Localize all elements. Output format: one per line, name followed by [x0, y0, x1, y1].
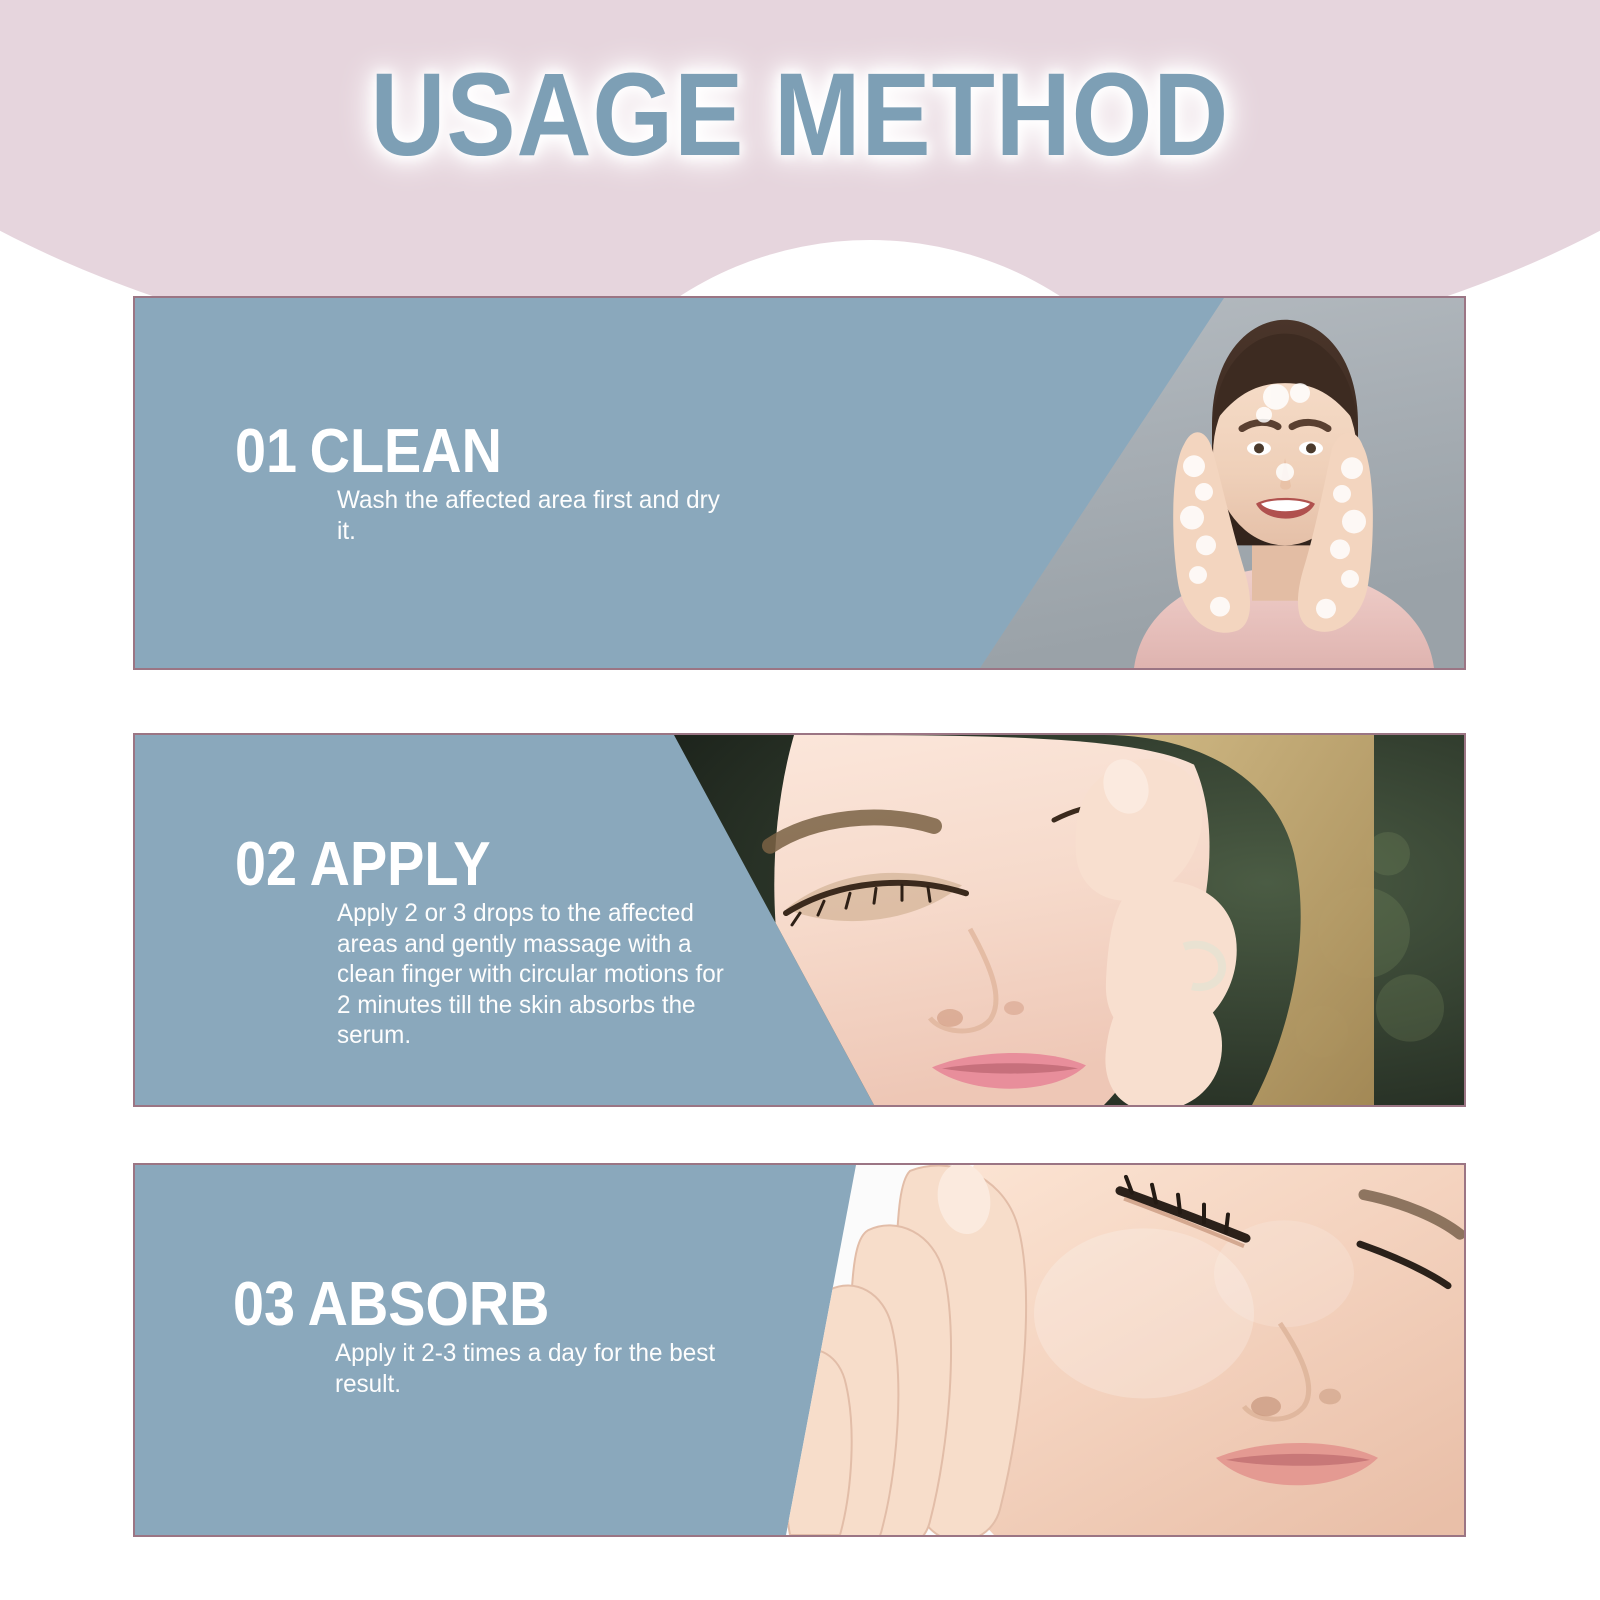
step-description-apply: Apply 2 or 3 drops to the affected areas… — [337, 898, 737, 1051]
step-name-absorb: ABSORB — [308, 1270, 550, 1339]
step-number-03: 03 — [233, 1270, 295, 1339]
step-text-clean: 01CLEAN Wash the affected area first and… — [235, 420, 757, 546]
step-text-apply: 02APPLY Apply 2 or 3 drops to the affect… — [235, 833, 749, 1051]
step-card-apply[interactable]: 02APPLY Apply 2 or 3 drops to the affect… — [133, 733, 1466, 1107]
step-card-absorb[interactable]: 03ABSORB Apply it 2-3 times a day for th… — [133, 1163, 1466, 1537]
step-number-02: 02 — [235, 830, 297, 899]
step-description-clean: Wash the affected area first and dry it. — [337, 485, 744, 546]
step-photo-absorb — [764, 1165, 1464, 1535]
step-name-clean: CLEAN — [310, 417, 502, 486]
step-heading-absorb: 03ABSORB — [233, 1273, 725, 1336]
step-card-clean[interactable]: 01CLEAN Wash the affected area first and… — [133, 296, 1466, 670]
step-number-01: 01 — [235, 417, 297, 486]
step-photo-clean — [664, 298, 1464, 668]
step-description-absorb: Apply it 2-3 times a day for the best re… — [335, 1338, 767, 1399]
step-text-absorb: 03ABSORB Apply it 2-3 times a day for th… — [233, 1273, 780, 1399]
step-name-apply: APPLY — [310, 830, 491, 899]
step-heading-apply: 02APPLY — [235, 833, 698, 896]
step-photo-apply — [674, 735, 1464, 1105]
step-heading-clean: 01CLEAN — [235, 420, 705, 483]
